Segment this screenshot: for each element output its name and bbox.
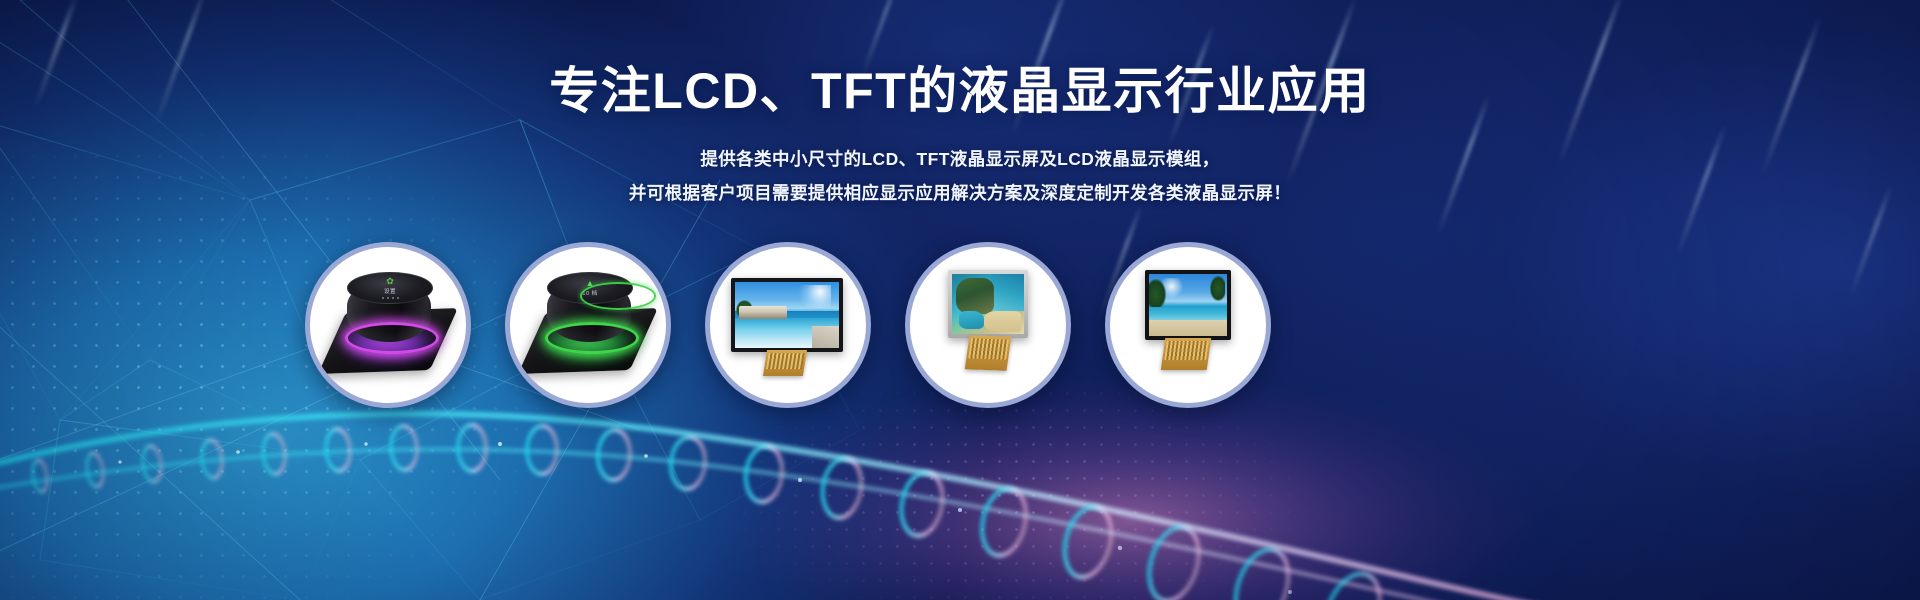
lcd-screen-image [1149, 274, 1227, 336]
product-circle-tft-lcd-black-square[interactable] [1105, 242, 1271, 408]
flower-icon: ✿ [386, 277, 394, 286]
product-image-smart-puck-green: ▲ 10 档 [510, 247, 666, 403]
product-image-tft-lcd-black-square [1110, 247, 1266, 403]
hero-banner: 专注LCD、TFT的液晶显示行业应用 提供各类中小尺寸的LCD、TFT液晶显示屏… [0, 0, 1920, 600]
indicator-dots [382, 297, 399, 299]
lcd-screen-image [735, 282, 839, 348]
product-circle-smart-puck-green[interactable]: ▲ 10 档 [505, 242, 671, 408]
led-ring-purple [345, 322, 439, 354]
led-ring-green [545, 322, 639, 354]
product-circle-tft-lcd-widescreen[interactable] [705, 242, 871, 408]
product-image-tft-lcd-silver [910, 247, 1066, 403]
fpc-ribbon-cable [965, 335, 1012, 370]
lcd-panel-black-bezel [731, 278, 843, 352]
device-screen-label: 设置 [384, 287, 396, 295]
product-circle-row: ✿ 设置 ▲ [0, 0, 1920, 600]
dial-ring-icon [580, 282, 656, 310]
product-image-smart-puck-purple: ✿ 设置 [310, 247, 466, 403]
product-circle-tft-lcd-silver[interactable] [905, 242, 1071, 408]
product-image-tft-lcd-widescreen [710, 247, 866, 403]
lcd-screen-image [952, 274, 1024, 334]
fpc-ribbon-cable [763, 350, 807, 376]
device-top-display: ▲ 10 档 [547, 272, 633, 304]
lcd-panel-black-bezel [1145, 270, 1231, 340]
fpc-ribbon-cable [1161, 338, 1211, 370]
product-circle-smart-puck-purple[interactable]: ✿ 设置 [305, 242, 471, 408]
lcd-panel-silver-bezel [948, 270, 1028, 338]
device-top-display: ✿ 设置 [347, 272, 433, 304]
